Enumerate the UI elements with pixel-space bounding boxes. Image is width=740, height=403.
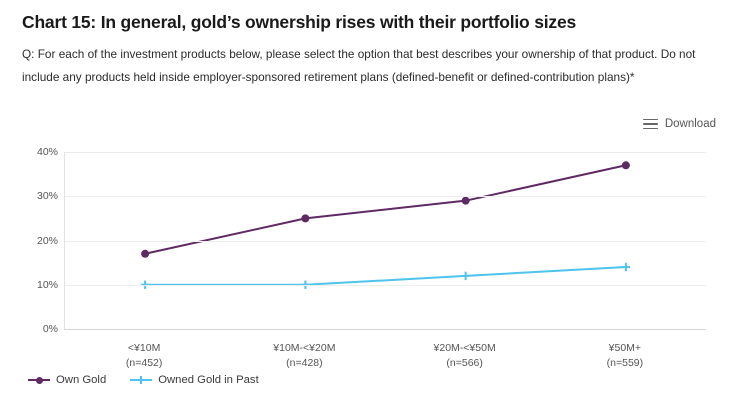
- legend-label: Own Gold: [56, 374, 106, 386]
- data-point-marker[interactable]: [462, 197, 470, 205]
- gridline: [65, 152, 706, 153]
- y-axis-tick-label: 10%: [37, 279, 58, 291]
- x-axis-category: <¥10M: [126, 341, 162, 356]
- y-axis-tick-label: 20%: [37, 235, 58, 247]
- x-axis-labels: <¥10M(n=452)¥10M-<¥20M(n=428)¥20M-<¥50M(…: [64, 331, 706, 371]
- gridline: [65, 285, 706, 286]
- y-axis-labels: 0%10%20%30%40%: [22, 145, 58, 330]
- legend-label: Owned Gold in Past: [158, 374, 258, 386]
- y-axis-tick-label: 40%: [37, 146, 58, 158]
- x-axis-sample-size: (n=566): [434, 356, 496, 371]
- download-button[interactable]: Download: [643, 118, 716, 130]
- download-label: Download: [665, 118, 716, 130]
- legend-marker-icon: [28, 374, 50, 386]
- x-axis-tick-label: ¥10M-<¥20M(n=428): [273, 341, 335, 371]
- y-axis-tick-label: 30%: [37, 190, 58, 202]
- x-axis-tick-label: ¥50M+(n=559): [607, 341, 643, 371]
- x-axis-sample-size: (n=559): [607, 356, 643, 371]
- x-axis-tick-label: <¥10M(n=452): [126, 341, 162, 371]
- x-axis-tick-label: ¥20M-<¥50M(n=566): [434, 341, 496, 371]
- data-point-marker[interactable]: [622, 161, 630, 169]
- chart-plot-area: 0%10%20%30%40% <¥10M(n=452)¥10M-<¥20M(n=…: [22, 145, 718, 340]
- gridline: [65, 196, 706, 197]
- data-point-marker[interactable]: [622, 263, 630, 271]
- page-title: Chart 15: In general, gold’s ownership r…: [22, 0, 718, 33]
- data-point-marker[interactable]: [141, 250, 149, 258]
- legend-item[interactable]: Owned Gold in Past: [130, 374, 258, 386]
- chart-legend: Own GoldOwned Gold in Past: [28, 374, 259, 386]
- x-axis-sample-size: (n=452): [126, 356, 162, 371]
- data-point-marker[interactable]: [461, 272, 469, 280]
- legend-item[interactable]: Own Gold: [28, 374, 106, 386]
- plot-canvas: [64, 152, 706, 330]
- gridline: [65, 241, 706, 242]
- x-axis-sample-size: (n=428): [273, 356, 335, 371]
- legend-marker-icon: [130, 374, 152, 386]
- x-axis-category: ¥20M-<¥50M: [434, 341, 496, 356]
- y-axis-tick-label: 0%: [43, 323, 58, 335]
- chart-page: Chart 15: In general, gold’s ownership r…: [0, 0, 740, 403]
- x-axis-category: ¥10M-<¥20M: [273, 341, 335, 356]
- hamburger-icon: [643, 119, 658, 130]
- series-line: [145, 267, 626, 285]
- chart-subtitle: Q: For each of the investment products b…: [22, 33, 712, 89]
- x-axis-category: ¥50M+: [607, 341, 643, 356]
- data-point-marker[interactable]: [301, 214, 309, 222]
